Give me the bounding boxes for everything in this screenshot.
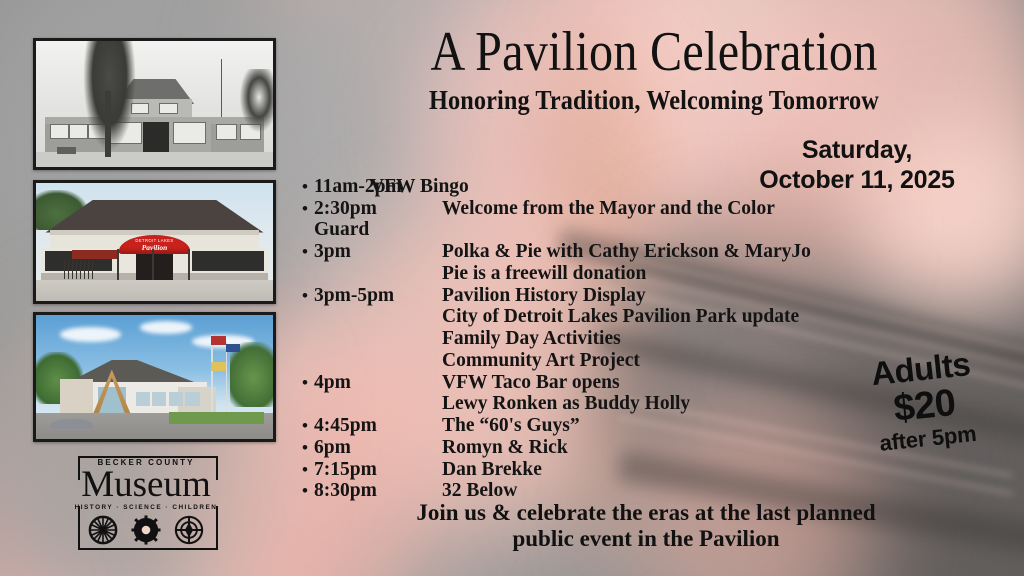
schedule-time-label: 3pm [314,241,351,263]
schedule-time-label: 3pm-5pm [314,285,394,307]
schedule-time-label: 6pm [314,437,351,459]
schedule-time-label: 4pm [314,372,351,394]
bullet-icon: • [296,439,314,458]
awning-bottom-text: Pavilion [119,243,190,252]
schedule-row: •7:15pmDan Brekke [296,459,926,481]
schedule-description: City of Detroit Lakes Pavilion Park upda… [442,306,926,328]
schedule-row-continued: 3pm-5pmCity of Detroit Lakes Pavilion Pa… [296,306,926,328]
schedule-description: 32 Below [442,480,926,502]
bullet-icon: • [296,461,314,480]
becker-county-museum-logo: BECKER COUNTY Museum HISTORY · SCIENCE ·… [66,452,226,552]
page-title: A Pavilion Celebration [346,24,962,81]
awning-top-text: DETROIT LAKES [119,238,190,243]
schedule-time: •2:30pm [296,198,442,220]
footer-line-1: Join us & celebrate the eras at the last… [296,500,996,526]
schedule-time-label: 8:30pm [314,480,377,502]
bullet-icon: • [296,482,314,501]
schedule-time: •6pm [296,437,442,459]
bullet-icon: • [296,417,314,436]
schedule-row: •3pm-5pmPavilion History Display [296,285,926,307]
schedule-row-continued: 3pm-5pmFamily Day Activities [296,328,926,350]
schedule-row: •4pmVFW Taco Bar opens [296,372,926,394]
schedule-row: •2:30pmWelcome from the Mayor and the Co… [296,198,926,220]
bullet-icon: • [296,374,314,393]
footer-line-2: public event in the Pavilion [296,526,996,552]
schedule-description: Pie is a freewill donation [442,263,926,285]
current-pavilion-photo: DETROIT LAKES Pavilion [33,180,276,304]
bullet-icon: • [296,178,314,197]
event-schedule: •11am-2pmVFW Bingo•2:30pmWelcome from th… [296,176,926,502]
schedule-row: •4:45pmThe “60's Guys” [296,415,926,437]
bullet-icon: • [296,287,314,306]
historic-pavilion-photo [33,38,276,170]
schedule-time: •4:45pm [296,415,442,437]
schedule-row-continued: 4pmLewy Ronken as Buddy Holly [296,393,926,415]
logo-wordmark: Museum [66,466,226,503]
schedule-time: •3pm-5pm [296,285,442,307]
schedule-row-continued: 3pmPie is a freewill donation [296,263,926,285]
schedule-time: •3pm [296,241,442,263]
bullet-icon: • [296,243,314,262]
schedule-time-label: 4:45pm [314,415,377,437]
schedule-description: Dan Brekke [442,459,926,481]
schedule-row: •8:30pm32 Below [296,480,926,502]
wagon-wheel-icon [88,515,118,545]
schedule-description-wrap: Guard [296,219,926,241]
schedule-description: Pavilion History Display [442,285,926,307]
schedule-row: •6pmRomyn & Rick [296,437,926,459]
poster-footer: Join us & celebrate the eras at the last… [296,500,996,553]
schedule-time-label: 2:30pm [314,198,377,220]
schedule-time-label: 7:15pm [314,459,377,481]
schedule-row: •11am-2pmVFW Bingo [296,176,926,198]
new-building-rendering [33,312,276,442]
gear-icon [131,515,161,545]
logo-tagline: HISTORY · SCIENCE · CHILDREN [66,504,226,511]
event-date-day: Saturday, [700,136,1014,166]
compass-icon [174,515,204,545]
schedule-description: VFW Bingo [370,176,926,198]
event-poster: DETROIT LAKES Pavilion [0,0,1024,576]
schedule-row: •3pmPolka & Pie with Cathy Erickson & Ma… [296,241,926,263]
schedule-description: Polka & Pie with Cathy Erickson & MaryJo [442,241,926,263]
bullet-icon: • [296,200,314,219]
admission-price-badge: Adults $20 after 5pm [831,343,1016,459]
page-subtitle: Honoring Tradition, Welcoming Tomorrow [332,86,976,114]
schedule-time: •4pm [296,372,442,394]
schedule-description: Family Day Activities [442,328,926,350]
schedule-description: Welcome from the Mayor and the Color [442,198,926,220]
schedule-time: •8:30pm [296,480,442,502]
pavilion-awning: DETROIT LAKES Pavilion [119,235,190,254]
schedule-time: •7:15pm [296,459,442,481]
